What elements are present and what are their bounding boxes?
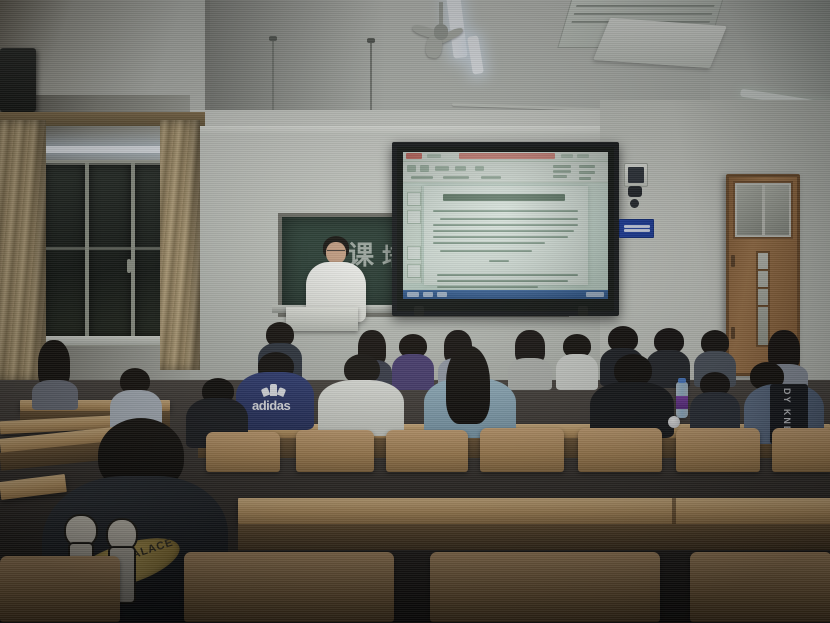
wall-control-box[interactable] xyxy=(624,163,648,187)
ceiling-fan-icon xyxy=(418,2,464,56)
chair-foreground-2[interactable] xyxy=(184,552,394,622)
window-mullion-2 xyxy=(131,163,135,339)
toolbar-value-2 xyxy=(553,170,571,173)
projection-screen[interactable] xyxy=(392,142,619,316)
window-rail xyxy=(43,247,169,250)
ribbon-tab-3 xyxy=(577,154,589,158)
toolbar-value-3 xyxy=(553,175,567,178)
projected-document xyxy=(403,152,608,299)
presenter-glasses-icon xyxy=(327,250,345,254)
desk-row-3-seam xyxy=(672,498,676,524)
student-far-1 xyxy=(32,340,76,404)
student-white-tee-top xyxy=(318,380,404,436)
document-line-5 xyxy=(433,236,567,238)
toolbar-icon-5 xyxy=(475,166,484,171)
classroom-photo: 课 培 ? xyxy=(0,0,830,623)
hanging-rod-cap-2 xyxy=(367,38,375,43)
document-line-11 xyxy=(437,286,539,288)
chair-5[interactable] xyxy=(578,428,662,472)
ribbon-file-chip xyxy=(406,153,422,159)
thumbnail-4[interactable] xyxy=(407,264,421,278)
os-taskbar[interactable] xyxy=(403,290,608,299)
chair-foreground-4[interactable] xyxy=(690,552,830,622)
chair-3[interactable] xyxy=(386,430,468,472)
chair-foreground-3[interactable] xyxy=(430,552,660,622)
document-line-7 xyxy=(440,250,532,252)
toolbar-value-9 xyxy=(481,176,501,179)
chair-4[interactable] xyxy=(480,428,564,472)
toolbar-icon-2 xyxy=(420,165,429,172)
document-ribbon xyxy=(403,152,608,162)
toolbar-value-7 xyxy=(411,176,433,179)
hanging-rod-cap-1 xyxy=(269,36,277,41)
document-line-4 xyxy=(433,230,574,232)
document-heading xyxy=(443,194,564,201)
thumbnail-2[interactable] xyxy=(407,210,421,224)
student-denim-hair xyxy=(446,346,490,424)
bottle-cap xyxy=(678,378,686,383)
wall-sign-line-2 xyxy=(624,229,650,232)
window-pane-1 xyxy=(45,165,85,337)
wall-dome-sensor-icon xyxy=(630,199,639,208)
desk-row-3 xyxy=(238,498,830,524)
toolbar-icon-4 xyxy=(455,166,466,171)
document-toolbar xyxy=(403,162,608,183)
chair-7[interactable] xyxy=(772,428,830,472)
document-page xyxy=(424,186,588,285)
student-denim-jacket xyxy=(424,352,516,434)
student-row2-right-edge xyxy=(690,372,740,430)
thumbnail-3[interactable] xyxy=(407,246,421,260)
curtain-right xyxy=(160,120,200,370)
water-bottle[interactable] xyxy=(676,382,688,418)
screen-mount-right xyxy=(578,306,588,316)
toolbar-value-6 xyxy=(579,177,591,180)
document-navigation-pane[interactable] xyxy=(405,186,422,283)
door-hinge-top xyxy=(731,255,735,267)
wall-sign xyxy=(619,219,654,238)
wall-sign-line-1 xyxy=(624,225,650,228)
adidas-trefoil-icon xyxy=(262,384,286,396)
chair-2[interactable] xyxy=(296,430,374,472)
ribbon-tab-2 xyxy=(561,154,573,158)
door-transom-window xyxy=(733,181,793,239)
bottle-label xyxy=(676,396,688,409)
document-line-10 xyxy=(437,280,568,282)
wall-speaker xyxy=(0,48,36,112)
toolbar-icon-3 xyxy=(435,166,449,171)
taskbar-item-2[interactable] xyxy=(423,292,433,297)
adidas-wordmark: adidas xyxy=(252,398,290,413)
student-far-1-top xyxy=(32,380,78,410)
window-latch xyxy=(127,259,131,273)
toolbar-value-8 xyxy=(443,176,469,179)
chair-foreground-1[interactable] xyxy=(0,556,120,622)
window-pane-2 xyxy=(89,165,131,337)
document-line-3 xyxy=(433,224,577,226)
screen-mount-left xyxy=(414,306,424,316)
toolbar-icon-1 xyxy=(407,165,416,172)
ceiling-vent-fin xyxy=(593,18,727,68)
taskbar-clock[interactable] xyxy=(586,292,604,297)
toolbar-value-5 xyxy=(579,171,595,174)
taskbar-item-3[interactable] xyxy=(437,292,447,297)
document-line-8 xyxy=(489,260,509,262)
jacket-vertical-text: DY KNE xyxy=(782,388,792,434)
student-black-tee-logo xyxy=(590,360,674,434)
document-line-2 xyxy=(440,218,578,220)
document-line-6 xyxy=(433,242,545,244)
student-white-tee xyxy=(318,360,404,432)
window-frame xyxy=(40,160,176,346)
window-mullion-1 xyxy=(85,163,89,339)
thumbnail-1[interactable] xyxy=(407,192,421,206)
document-line-9 xyxy=(437,274,578,276)
desk-row-3-front xyxy=(238,524,830,550)
chest-circle-logo-icon xyxy=(668,416,680,428)
taskbar-item-1[interactable] xyxy=(407,292,419,297)
chair-6[interactable] xyxy=(676,428,760,472)
toolbar-value-1 xyxy=(553,165,571,168)
toolbar-value-4 xyxy=(579,165,595,168)
ribbon-accent-bar xyxy=(459,153,555,159)
wall-camera-icon xyxy=(628,186,642,197)
ribbon-tab-1 xyxy=(427,154,441,158)
document-line-1 xyxy=(433,210,577,212)
